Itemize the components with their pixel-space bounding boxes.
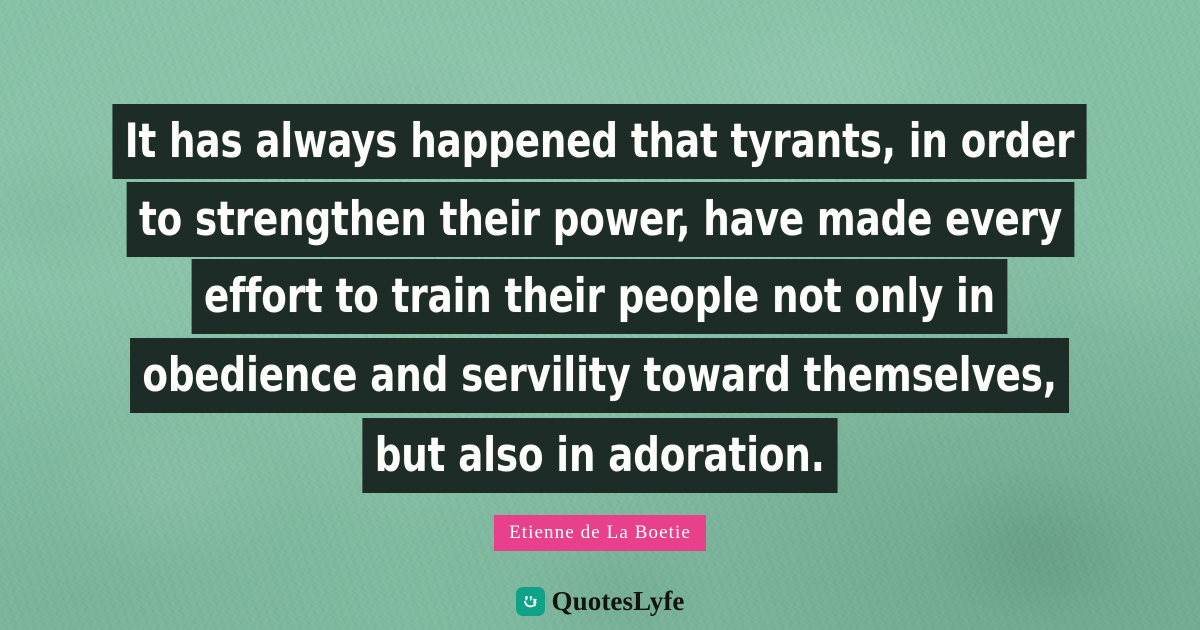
quote-line: but also in adoration.	[330, 418, 870, 493]
quote-poster: It has always happened that tyrants, in …	[0, 0, 1200, 630]
brand-logo[interactable]: QuotesLyfe	[516, 587, 685, 616]
quote-line-text: obedience and servility toward themselve…	[130, 338, 1069, 413]
quote-smiley-icon	[516, 587, 545, 616]
quote-line-text: but also in adoration.	[363, 418, 838, 493]
quote-line-text: It has always happened that tyrants, in …	[113, 104, 1087, 179]
quote-line-text: to strengthen their power, have made eve…	[126, 182, 1074, 257]
quote-line: obedience and servility toward themselve…	[66, 338, 1133, 413]
quote-line: effort to train their people not only in	[136, 259, 1063, 334]
quote-line-text: effort to train their people not only in	[192, 259, 1008, 334]
quote-text-block: It has always happened that tyrants, in …	[70, 104, 1130, 493]
quote-line: It has always happened that tyrants, in …	[46, 104, 1153, 179]
author-badge: Etienne de La Boetie	[494, 515, 706, 551]
brand-name: QuotesLyfe	[552, 588, 685, 615]
quote-line: to strengthen their power, have made eve…	[62, 182, 1139, 257]
